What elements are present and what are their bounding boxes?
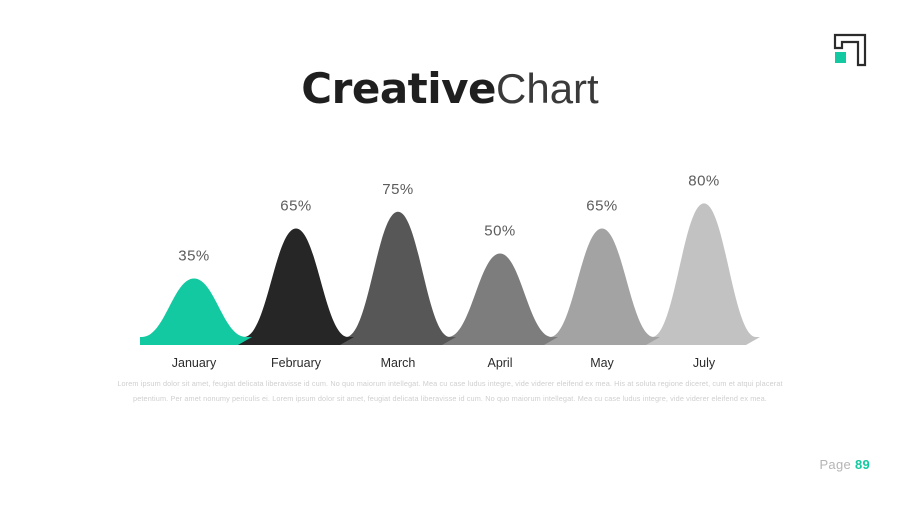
chart-category-label: July (693, 356, 716, 370)
chart-value-label: 65% (586, 197, 618, 214)
chart-category-labels: JanuaryFebruaryMarchAprilMayJuly (172, 356, 716, 370)
chart-category-label: May (590, 356, 614, 370)
chart-curve (142, 279, 246, 337)
chart-category-label: March (381, 356, 416, 370)
page-footer: Page 89 (819, 457, 870, 472)
chart-category-label: April (487, 356, 512, 370)
chart-curve (346, 212, 450, 337)
chart-value-labels: 35%65%75%50%65%80% (178, 172, 720, 264)
chart-value-label: 75% (382, 181, 414, 198)
chart-curve (244, 228, 348, 337)
chart-category-label: February (271, 356, 322, 370)
chart-baseline-band (140, 337, 252, 345)
footer-page-word: Page (819, 457, 851, 472)
page-title-light: Chart (496, 65, 599, 112)
chart-value-label: 50% (484, 223, 516, 240)
page-title: CreativeChart (0, 64, 900, 113)
chart-category-label: January (172, 356, 217, 370)
footer-page-number: 89 (855, 457, 870, 472)
page-title-bold: Creative (301, 64, 496, 113)
chart-curve (448, 254, 552, 338)
chart-canvas: 35%65%75%50%65%80% JanuaryFebruaryMarchA… (0, 130, 900, 375)
chart-value-label: 80% (688, 172, 720, 189)
creative-chart: 35%65%75%50%65%80% JanuaryFebruaryMarchA… (0, 130, 900, 375)
chart-value-label: 35% (178, 248, 210, 265)
logo-accent-square (835, 52, 846, 63)
chart-curve (652, 203, 756, 337)
chart-value-label: 65% (280, 197, 312, 214)
chart-curve (550, 228, 654, 337)
chart-curves (140, 203, 760, 345)
description-paragraph: Lorem ipsum dolor sit amet, feugiat deli… (110, 376, 790, 406)
